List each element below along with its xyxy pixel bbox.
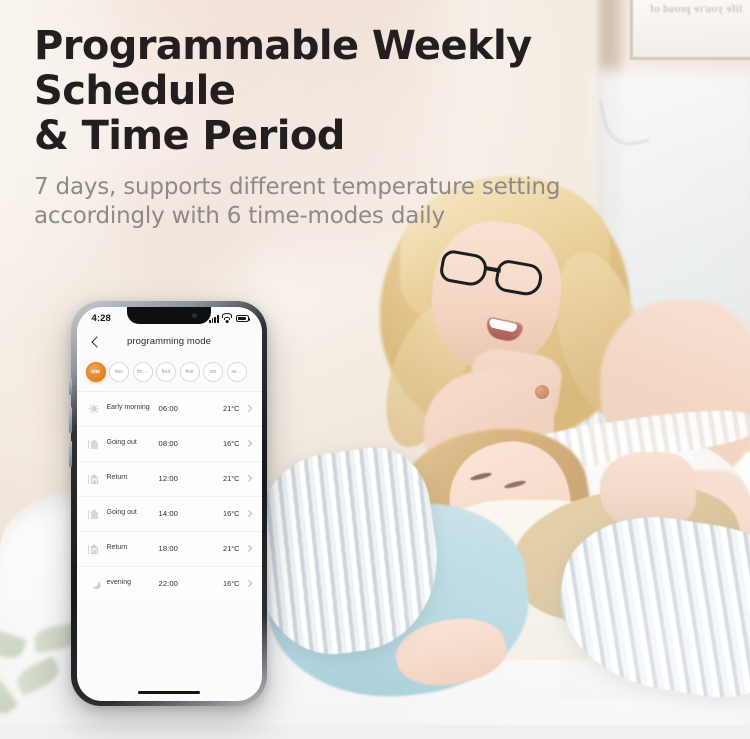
app-navbar: programming mode <box>77 329 262 355</box>
battery-icon <box>236 315 249 322</box>
phone-frame: 4:28 programming mode one two thr… four … <box>71 301 267 706</box>
chevron-right-icon[interactable] <box>245 405 252 412</box>
page-subtitle: 7 days, supports different temperature s… <box>34 173 674 231</box>
day-chip-six[interactable]: six <box>203 362 223 382</box>
schedule-list: Early morning 06:00 21°C Going out 08:00… <box>77 391 262 601</box>
schedule-temp: 16°C <box>205 439 245 448</box>
schedule-time: 22:00 <box>159 579 205 588</box>
schedule-temp: 16°C <box>205 509 245 518</box>
schedule-label: evening <box>107 579 159 587</box>
signal-icon <box>209 315 218 323</box>
chevron-right-icon[interactable] <box>245 580 252 587</box>
status-bar: 4:28 <box>77 307 262 329</box>
day-chip-one[interactable]: one <box>86 362 106 382</box>
status-time: 4:28 <box>92 313 111 324</box>
schedule-label: Return <box>107 544 159 552</box>
volume-down-button[interactable] <box>69 441 72 467</box>
home-indicator[interactable] <box>138 691 200 694</box>
day-chip-two[interactable]: two <box>109 362 129 382</box>
day-chip-four[interactable]: four <box>156 362 176 382</box>
schedule-time: 08:00 <box>159 439 205 448</box>
status-icons <box>209 315 248 323</box>
mute-switch[interactable] <box>69 379 72 395</box>
subhead-line-2: accordingly with 6 time-modes daily <box>34 202 674 231</box>
schedule-label: Going out <box>107 439 159 447</box>
home-icon <box>88 471 101 487</box>
leaf <box>0 625 27 663</box>
day-selector: one two thr… four five six se… <box>77 355 262 391</box>
going-out-icon <box>88 436 101 452</box>
wifi-icon <box>222 315 232 323</box>
headline-line-1: Programmable Weekly Schedule <box>34 24 674 114</box>
schedule-label: Return <box>107 474 159 482</box>
chevron-right-icon[interactable] <box>245 510 252 517</box>
schedule-temp: 21°C <box>205 474 245 483</box>
picture-frame-text: life you're proud of <box>640 2 750 16</box>
schedule-row[interactable]: Return 18:00 21°C <box>77 531 262 566</box>
back-icon[interactable] <box>89 335 103 349</box>
sun-icon <box>88 401 101 417</box>
schedule-row[interactable]: evening 22:00 16°C <box>77 566 262 601</box>
day-chip-three[interactable]: thr… <box>133 362 153 382</box>
lens-right <box>493 258 544 298</box>
volume-up-button[interactable] <box>69 407 72 433</box>
schedule-time: 12:00 <box>159 474 205 483</box>
schedule-temp: 21°C <box>205 404 245 413</box>
chevron-right-icon[interactable] <box>245 475 252 482</box>
schedule-row[interactable]: Going out 14:00 16°C <box>77 496 262 531</box>
moon-icon <box>88 576 101 592</box>
necklace-pendant <box>535 385 549 399</box>
schedule-row[interactable]: Return 12:00 21°C <box>77 461 262 496</box>
bottom-strip <box>0 725 750 739</box>
going-out-icon <box>88 506 101 522</box>
phone-screen: 4:28 programming mode one two thr… four … <box>77 307 262 701</box>
schedule-time: 14:00 <box>159 509 205 518</box>
chevron-right-icon[interactable] <box>245 440 252 447</box>
schedule-temp: 21°C <box>205 544 245 553</box>
schedule-time: 06:00 <box>159 404 205 413</box>
schedule-row[interactable]: Early morning 06:00 21°C <box>77 391 262 426</box>
subhead-line-1: 7 days, supports different temperature s… <box>34 173 674 202</box>
lens-left <box>438 249 489 289</box>
headline-line-2: & Time Period <box>34 114 674 159</box>
app-title: programming mode <box>77 336 262 347</box>
day-chip-five[interactable]: five <box>180 362 200 382</box>
home-icon <box>88 541 101 557</box>
leaf <box>0 669 18 719</box>
page-title: Programmable Weekly Schedule & Time Peri… <box>34 24 674 159</box>
day-chip-seven[interactable]: se… <box>227 362 247 382</box>
schedule-temp: 16°C <box>205 579 245 588</box>
phone-mockup: 4:28 programming mode one two thr… four … <box>71 301 267 706</box>
leaf <box>13 656 63 696</box>
chevron-right-icon[interactable] <box>245 545 252 552</box>
promo-copy: Programmable Weekly Schedule & Time Peri… <box>34 24 674 231</box>
schedule-row[interactable]: Going out 08:00 16°C <box>77 426 262 461</box>
schedule-time: 18:00 <box>159 544 205 553</box>
schedule-label: Early morning <box>107 404 159 412</box>
schedule-label: Going out <box>107 509 159 517</box>
